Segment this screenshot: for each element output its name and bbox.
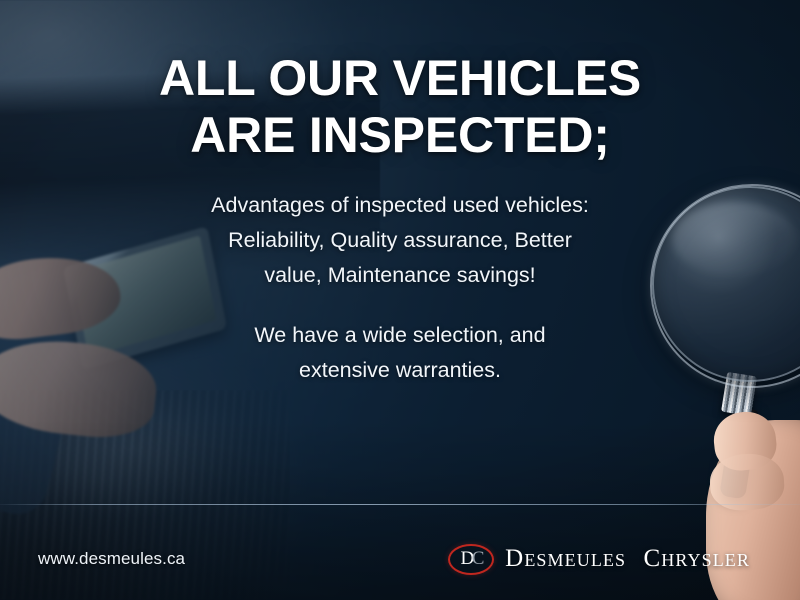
banner-content: ALL OUR VEHICLES ARE INSPECTED; Advantag… — [0, 0, 800, 600]
body-copy: Advantages of inspected used vehicles: R… — [0, 164, 800, 388]
headline-line-1: ALL OUR VEHICLES — [96, 50, 704, 107]
footer-divider — [0, 504, 800, 505]
headline: ALL OUR VEHICLES ARE INSPECTED; — [0, 0, 800, 164]
body-p2-line-2: extensive warranties. — [140, 353, 660, 388]
body-p1-line-3: value, Maintenance savings! — [140, 258, 660, 293]
logo-word-chrysler: Chrysler — [644, 545, 751, 572]
body-p1-line-1: Advantages of inspected used vehicles: — [140, 188, 660, 223]
logo-word-desmeules: Desmeules — [505, 545, 626, 572]
website-url[interactable]: www.desmeules.ca — [38, 549, 185, 569]
logo-letter-d: D — [460, 549, 471, 568]
dc-monogram-icon: D C — [448, 544, 494, 575]
logo-monogram-letters: D C — [448, 544, 494, 575]
body-paragraph-1: Advantages of inspected used vehicles: R… — [140, 188, 660, 292]
logo-letter-c: C — [472, 549, 482, 568]
footer: www.desmeules.ca D C Desmeules Chrysler — [0, 518, 800, 600]
desmeules-chrysler-logo[interactable]: D C Desmeules Chrysler — [448, 544, 762, 575]
logo-wordmark: Desmeules Chrysler — [505, 545, 750, 573]
body-paragraph-2: We have a wide selection, and extensive … — [140, 318, 660, 388]
promo-banner: ALL OUR VEHICLES ARE INSPECTED; Advantag… — [0, 0, 800, 600]
headline-line-2: ARE INSPECTED; — [96, 107, 704, 164]
body-p2-line-1: We have a wide selection, and — [140, 318, 660, 353]
body-p1-line-2: Reliability, Quality assurance, Better — [140, 223, 660, 258]
